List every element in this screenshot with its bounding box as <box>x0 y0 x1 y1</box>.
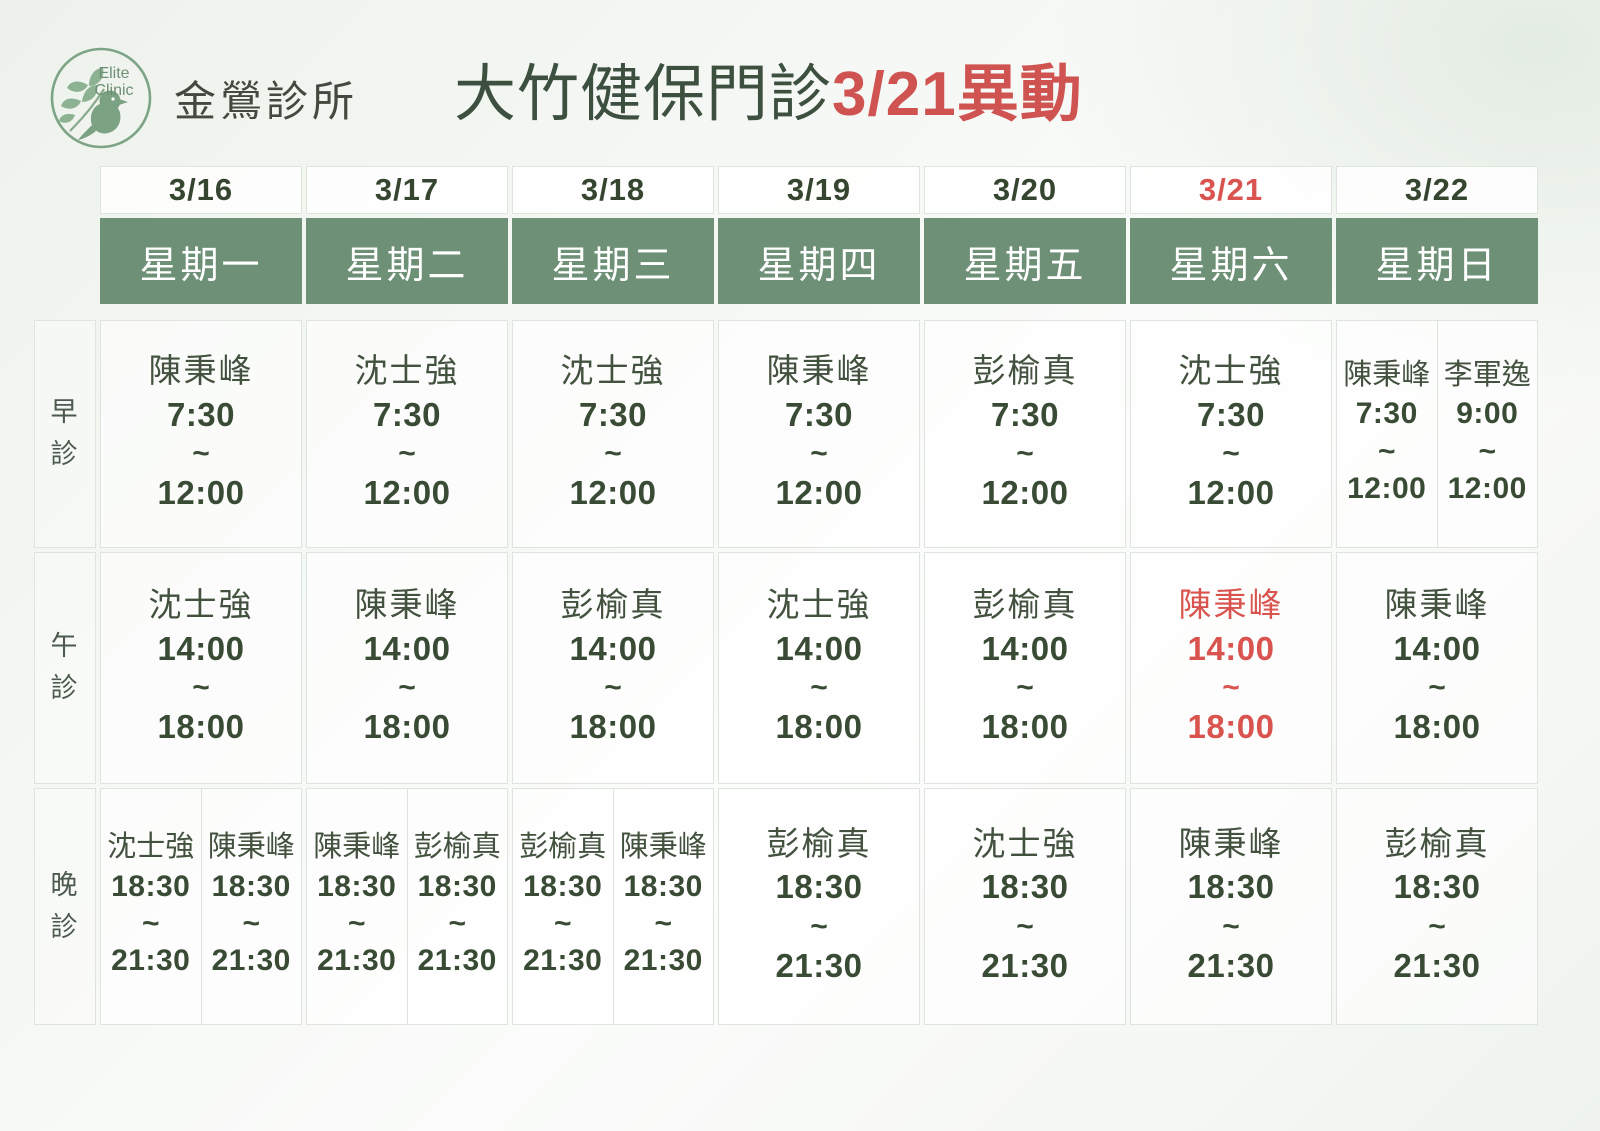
slot-cell[interactable]: 陳秉峰18:30~21:30 <box>1130 788 1332 1025</box>
slot-time-separator: ~ <box>1439 435 1537 468</box>
date-header-3-18: 3/18 <box>512 166 714 214</box>
weekday-header-3: 星期三 <box>512 218 714 304</box>
slot-entry[interactable]: 陳秉峰7:30~12:00 <box>101 321 301 547</box>
slot-end-time: 18:00 <box>103 704 299 750</box>
slot-entry[interactable]: 彭榆真14:00~18:00 <box>925 553 1125 783</box>
doctor-name: 陳秉峰 <box>1339 584 1535 625</box>
page-title: 大竹健保門診3/21異動 <box>454 64 1083 132</box>
schedule-table: 3/163/173/183/193/203/213/22星期一星期二星期三星期四… <box>30 162 1542 1029</box>
session-label-晚診: 晚診 <box>34 788 96 1025</box>
slot-cell[interactable]: 沈士強18:30~21:30陳秉峰18:30~21:30 <box>100 788 302 1025</box>
slot-entry[interactable]: 陳秉峰18:30~21:30 <box>1131 789 1331 1024</box>
slot-time-separator: ~ <box>1339 910 1535 943</box>
slot-cell[interactable]: 彭榆真14:00~18:00 <box>512 552 714 784</box>
slot-end-time: 21:30 <box>102 940 200 981</box>
slot-end-time: 21:30 <box>721 943 917 989</box>
slot-end-time: 18:00 <box>721 704 917 750</box>
slot-end-time: 21:30 <box>409 940 507 981</box>
bird-branch-logo-icon: Elite Clinic <box>48 45 154 151</box>
slot-end-time: 21:30 <box>1133 943 1329 989</box>
slot-entry[interactable]: 沈士強7:30~12:00 <box>1131 321 1331 547</box>
slot-entry[interactable]: 陳秉峰14:00~18:00 <box>307 553 507 783</box>
session-label-char: 早 <box>39 392 91 434</box>
slot-split: 沈士強18:30~21:30 <box>925 789 1125 1024</box>
slot-entry[interactable]: 陳秉峰18:30~21:30 <box>201 789 302 1024</box>
slot-time-separator: ~ <box>409 907 507 940</box>
slot-start-time: 7:30 <box>103 392 299 438</box>
slot-start-time: 18:30 <box>615 866 713 907</box>
slot-cell[interactable]: 沈士強7:30~12:00 <box>1130 320 1332 548</box>
corner-spacer <box>34 166 96 214</box>
weekday-header-6: 星期六 <box>1130 218 1332 304</box>
doctor-name: 陳秉峰 <box>1133 823 1329 864</box>
slot-start-time: 18:30 <box>1339 864 1535 910</box>
slot-end-time: 21:30 <box>308 940 406 981</box>
slot-start-time: 14:00 <box>721 626 917 672</box>
slot-entry[interactable]: 彭榆真18:30~21:30 <box>1337 789 1537 1024</box>
slot-time-separator: ~ <box>515 671 711 704</box>
page-header: Elite Clinic 金鶯診所 大竹健保門診3/21異動 <box>0 0 1600 162</box>
slot-time-separator: ~ <box>615 907 713 940</box>
slot-split: 彭榆真14:00~18:00 <box>925 553 1125 783</box>
doctor-name: 彭榆真 <box>515 584 711 625</box>
page-title-main: 大竹健保門診 <box>454 60 832 129</box>
slot-cell[interactable]: 彭榆真18:30~21:30 <box>718 788 920 1025</box>
slot-cell[interactable]: 沈士強14:00~18:00 <box>100 552 302 784</box>
slot-time-separator: ~ <box>308 907 406 940</box>
slot-cell[interactable]: 彭榆真14:00~18:00 <box>924 552 1126 784</box>
slot-time-separator: ~ <box>102 907 200 940</box>
slot-end-time: 18:00 <box>1133 704 1329 750</box>
slot-entry[interactable]: 沈士強7:30~12:00 <box>513 321 713 547</box>
slot-end-time: 21:30 <box>927 943 1123 989</box>
slot-split: 陳秉峰14:00~18:00 <box>1131 553 1331 783</box>
slot-time-separator: ~ <box>103 437 299 470</box>
slot-entry[interactable]: 彭榆真18:30~21:30 <box>719 789 919 1024</box>
slot-start-time: 18:30 <box>203 866 301 907</box>
slot-cell[interactable]: 陳秉峰14:00~18:00 <box>306 552 508 784</box>
slot-split: 彭榆真18:30~21:30 <box>1337 789 1537 1024</box>
date-header-3-20: 3/20 <box>924 166 1126 214</box>
slot-entry[interactable]: 陳秉峰7:30~12:00 <box>719 321 919 547</box>
slot-start-time: 18:30 <box>927 864 1123 910</box>
slot-start-time: 7:30 <box>515 392 711 438</box>
session-label-早診: 早診 <box>34 320 96 548</box>
slot-start-time: 9:00 <box>1439 393 1537 434</box>
slot-time-separator: ~ <box>721 671 917 704</box>
slot-entry[interactable]: 沈士強14:00~18:00 <box>719 553 919 783</box>
slot-time-separator: ~ <box>514 907 612 940</box>
slot-entry[interactable]: 沈士強7:30~12:00 <box>307 321 507 547</box>
doctor-name: 彭榆真 <box>514 829 612 865</box>
slot-time-separator: ~ <box>309 437 505 470</box>
date-header-3-16: 3/16 <box>100 166 302 214</box>
slot-start-time: 14:00 <box>1133 626 1329 672</box>
slot-start-time: 14:00 <box>103 626 299 672</box>
weekday-header-4: 星期四 <box>718 218 920 304</box>
slot-start-time: 7:30 <box>927 392 1123 438</box>
slot-split: 陳秉峰14:00~18:00 <box>1337 553 1537 783</box>
doctor-name: 沈士強 <box>102 829 200 865</box>
slot-cell[interactable]: 彭榆真18:30~21:30陳秉峰18:30~21:30 <box>512 788 714 1025</box>
slot-start-time: 14:00 <box>1339 626 1535 672</box>
slot-time-separator: ~ <box>515 437 711 470</box>
slot-split: 陳秉峰7:30~12:00 <box>719 321 919 547</box>
logo-text-line1: Elite <box>98 65 129 82</box>
slot-split: 彭榆真18:30~21:30 <box>719 789 919 1024</box>
slot-split: 沈士強14:00~18:00 <box>101 553 301 783</box>
slot-cell[interactable]: 彭榆真18:30~21:30 <box>1336 788 1538 1025</box>
doctor-name: 陳秉峰 <box>1133 584 1329 625</box>
weekday-header-1: 星期一 <box>100 218 302 304</box>
doctor-name: 陳秉峰 <box>615 829 713 865</box>
brand: Elite Clinic 金鶯診所 <box>48 45 358 151</box>
clinic-name: 金鶯診所 <box>174 68 358 129</box>
slot-entry[interactable]: 沈士強14:00~18:00 <box>101 553 301 783</box>
slot-cell[interactable]: 沈士強14:00~18:00 <box>718 552 920 784</box>
slot-start-time: 18:30 <box>308 866 406 907</box>
slot-entry[interactable]: 彭榆真7:30~12:00 <box>925 321 1125 547</box>
slot-end-time: 18:00 <box>927 704 1123 750</box>
slot-split: 沈士強18:30~21:30陳秉峰18:30~21:30 <box>101 789 301 1024</box>
slot-split: 陳秉峰18:30~21:30彭榆真18:30~21:30 <box>307 789 507 1024</box>
page-title-accent: 3/21異動 <box>832 60 1083 129</box>
doctor-name: 彭榆真 <box>927 584 1123 625</box>
slot-start-time: 18:30 <box>409 866 507 907</box>
slot-start-time: 7:30 <box>721 392 917 438</box>
slot-end-time: 12:00 <box>721 470 917 516</box>
slot-time-separator: ~ <box>927 437 1123 470</box>
doctor-name: 陳秉峰 <box>309 584 505 625</box>
gap-cell <box>34 308 1538 316</box>
slot-end-time: 18:00 <box>1339 704 1535 750</box>
slot-end-time: 12:00 <box>103 470 299 516</box>
date-header-3-21: 3/21 <box>1130 166 1332 214</box>
slot-split: 沈士強14:00~18:00 <box>719 553 919 783</box>
doctor-name: 彭榆真 <box>1339 823 1535 864</box>
slot-end-time: 12:00 <box>309 470 505 516</box>
slot-entry[interactable]: 李軍逸9:00~12:00 <box>1437 321 1538 547</box>
slot-time-separator: ~ <box>721 910 917 943</box>
slot-end-time: 21:30 <box>203 940 301 981</box>
slot-start-time: 7:30 <box>1338 393 1436 434</box>
slot-end-time: 12:00 <box>1338 468 1436 509</box>
doctor-name: 彭榆真 <box>721 823 917 864</box>
slot-start-time: 7:30 <box>1133 392 1329 438</box>
slot-entry[interactable]: 陳秉峰14:00~18:00 <box>1131 553 1331 783</box>
slot-cell[interactable]: 陳秉峰7:30~12:00 <box>100 320 302 548</box>
date-header-3-19: 3/19 <box>718 166 920 214</box>
slot-start-time: 7:30 <box>309 392 505 438</box>
slot-entry[interactable]: 彭榆真14:00~18:00 <box>513 553 713 783</box>
slot-end-time: 21:30 <box>1339 943 1535 989</box>
slot-split: 陳秉峰7:30~12:00 <box>101 321 301 547</box>
slot-end-time: 12:00 <box>515 470 711 516</box>
session-row-早診: 早診陳秉峰7:30~12:00沈士強7:30~12:00沈士強7:30~12:0… <box>34 320 1538 548</box>
doctor-name: 陳秉峰 <box>103 350 299 391</box>
slot-time-separator: ~ <box>203 907 301 940</box>
session-label-午診: 午診 <box>34 552 96 784</box>
session-label-char: 晚 <box>39 865 91 907</box>
weekday-header-row: 星期一星期二星期三星期四星期五星期六星期日 <box>34 218 1538 304</box>
slot-cell[interactable]: 沈士強18:30~21:30 <box>924 788 1126 1025</box>
logo-text-line2: Clinic <box>94 82 133 99</box>
doctor-name: 沈士強 <box>721 584 917 625</box>
slot-start-time: 18:30 <box>1133 864 1329 910</box>
session-label-char: 診 <box>39 907 91 949</box>
corner-spacer <box>34 218 96 304</box>
slot-cell[interactable]: 陳秉峰14:00~18:00 <box>1336 552 1538 784</box>
slot-split: 陳秉峰18:30~21:30 <box>1131 789 1331 1024</box>
doctor-name: 陳秉峰 <box>1338 357 1436 393</box>
doctor-name: 李軍逸 <box>1439 357 1537 393</box>
doctor-name: 陳秉峰 <box>308 829 406 865</box>
slot-end-time: 18:00 <box>515 704 711 750</box>
slot-split: 沈士強7:30~12:00 <box>307 321 507 547</box>
doctor-name: 沈士強 <box>103 584 299 625</box>
slot-time-separator: ~ <box>1339 671 1535 704</box>
doctor-name: 陳秉峰 <box>203 829 301 865</box>
slot-cell[interactable]: 彭榆真7:30~12:00 <box>924 320 1126 548</box>
slot-start-time: 18:30 <box>721 864 917 910</box>
weekday-header-2: 星期二 <box>306 218 508 304</box>
slot-entry[interactable]: 陳秉峰18:30~21:30 <box>613 789 714 1024</box>
slot-time-separator: ~ <box>927 671 1123 704</box>
slot-time-separator: ~ <box>927 910 1123 943</box>
slot-time-separator: ~ <box>1133 437 1329 470</box>
slot-start-time: 18:30 <box>102 866 200 907</box>
date-header-row: 3/163/173/183/193/203/213/22 <box>34 166 1538 214</box>
weekday-header-7: 星期日 <box>1336 218 1538 304</box>
slot-time-separator: ~ <box>309 671 505 704</box>
slot-time-separator: ~ <box>1133 910 1329 943</box>
slot-split: 彭榆真14:00~18:00 <box>513 553 713 783</box>
doctor-name: 沈士強 <box>927 823 1123 864</box>
slot-cell[interactable]: 陳秉峰18:30~21:30彭榆真18:30~21:30 <box>306 788 508 1025</box>
slot-start-time: 14:00 <box>309 626 505 672</box>
slot-start-time: 14:00 <box>515 626 711 672</box>
session-row-晚診: 晚診沈士強18:30~21:30陳秉峰18:30~21:30陳秉峰18:30~2… <box>34 788 1538 1025</box>
slot-entry[interactable]: 彭榆真18:30~21:30 <box>513 789 613 1024</box>
slot-end-time: 12:00 <box>1439 468 1537 509</box>
doctor-name: 彭榆真 <box>409 829 507 865</box>
doctor-name: 沈士強 <box>515 350 711 391</box>
slot-entry[interactable]: 陳秉峰7:30~12:00 <box>1337 321 1437 547</box>
slot-end-time: 12:00 <box>927 470 1123 516</box>
slot-cell[interactable]: 陳秉峰7:30~12:00李軍逸9:00~12:00 <box>1336 320 1538 548</box>
weekday-header-5: 星期五 <box>924 218 1126 304</box>
doctor-name: 陳秉峰 <box>721 350 917 391</box>
slot-time-separator: ~ <box>721 437 917 470</box>
slot-split: 陳秉峰7:30~12:00李軍逸9:00~12:00 <box>1337 321 1537 547</box>
slot-end-time: 12:00 <box>1133 470 1329 516</box>
slot-end-time: 21:30 <box>514 940 612 981</box>
doctor-name: 彭榆真 <box>927 350 1123 391</box>
slot-time-separator: ~ <box>103 671 299 704</box>
doctor-name: 沈士強 <box>309 350 505 391</box>
header-body-gap <box>34 308 1538 316</box>
slot-end-time: 21:30 <box>615 940 713 981</box>
session-label-char: 診 <box>39 434 91 476</box>
slot-cell[interactable]: 陳秉峰7:30~12:00 <box>718 320 920 548</box>
session-row-午診: 午診沈士強14:00~18:00陳秉峰14:00~18:00彭榆真14:00~1… <box>34 552 1538 784</box>
doctor-name: 沈士強 <box>1133 350 1329 391</box>
slot-entry[interactable]: 沈士強18:30~21:30 <box>925 789 1125 1024</box>
date-header-3-22: 3/22 <box>1336 166 1538 214</box>
slot-cell[interactable]: 陳秉峰14:00~18:00 <box>1130 552 1332 784</box>
slot-entry[interactable]: 沈士強18:30~21:30 <box>101 789 201 1024</box>
slot-split: 沈士強7:30~12:00 <box>1131 321 1331 547</box>
slot-split: 彭榆真18:30~21:30陳秉峰18:30~21:30 <box>513 789 713 1024</box>
slot-time-separator: ~ <box>1133 671 1329 704</box>
slot-end-time: 18:00 <box>309 704 505 750</box>
slot-start-time: 14:00 <box>927 626 1123 672</box>
slot-split: 陳秉峰14:00~18:00 <box>307 553 507 783</box>
slot-cell[interactable]: 沈士強7:30~12:00 <box>306 320 508 548</box>
slot-split: 彭榆真7:30~12:00 <box>925 321 1125 547</box>
slot-start-time: 18:30 <box>514 866 612 907</box>
slot-split: 沈士強7:30~12:00 <box>513 321 713 547</box>
slot-entry[interactable]: 陳秉峰14:00~18:00 <box>1337 553 1537 783</box>
slot-entry[interactable]: 陳秉峰18:30~21:30 <box>307 789 407 1024</box>
slot-cell[interactable]: 沈士強7:30~12:00 <box>512 320 714 548</box>
date-header-3-17: 3/17 <box>306 166 508 214</box>
session-label-char: 午 <box>39 626 91 668</box>
session-label-char: 診 <box>39 668 91 710</box>
slot-entry[interactable]: 彭榆真18:30~21:30 <box>407 789 508 1024</box>
slot-time-separator: ~ <box>1338 435 1436 468</box>
